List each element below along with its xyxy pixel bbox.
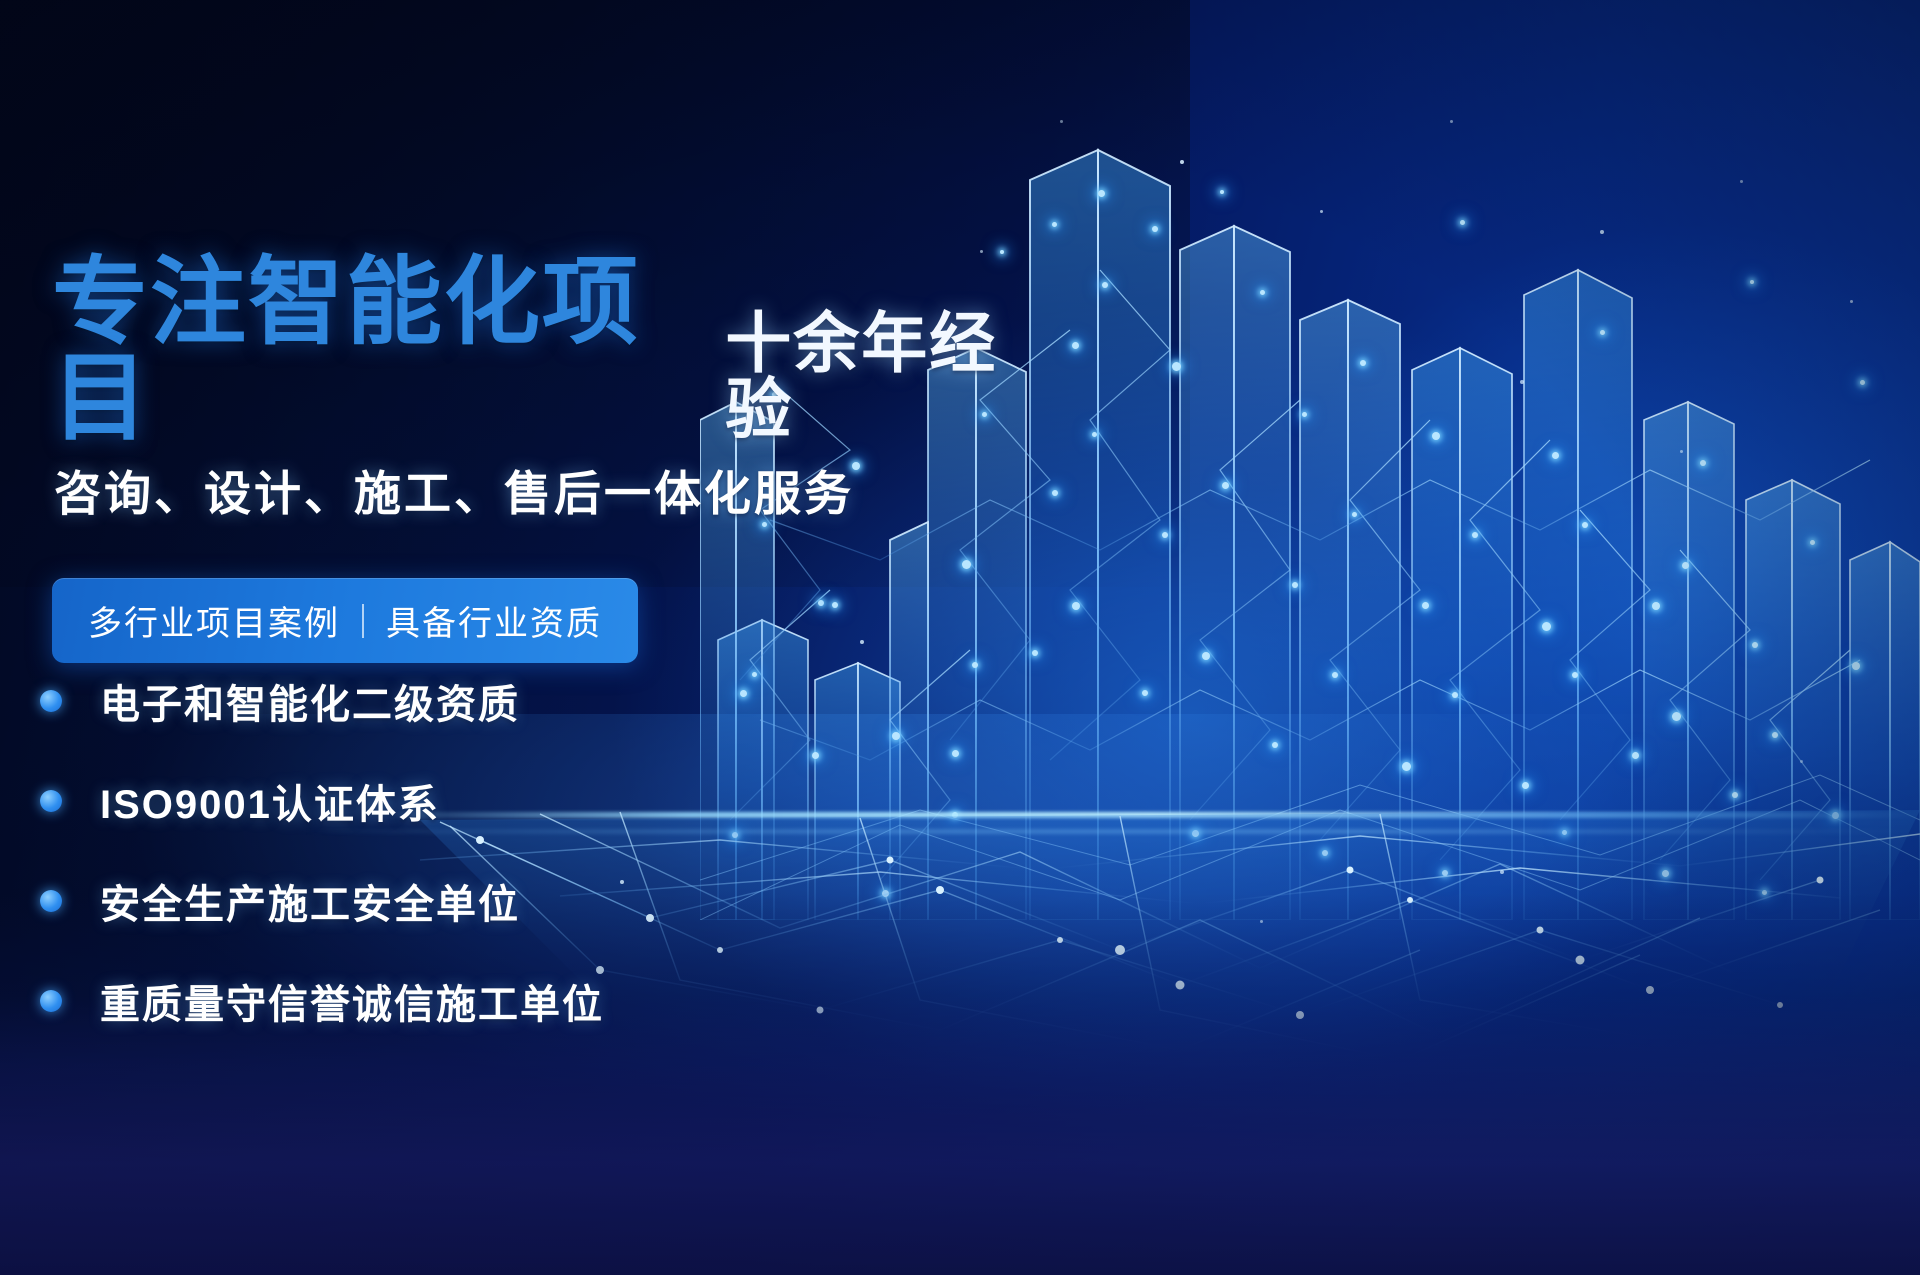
subheadline: 咨询、设计、施工、售后一体化服务 [54, 455, 854, 524]
list-item: 重质量守信誉诚信施工单位 [40, 972, 604, 1030]
list-item: 安全生产施工安全单位 [40, 872, 604, 930]
headline-primary: 专注智能化项目 [52, 255, 711, 447]
highlight-badge[interactable]: 多行业项目案例 具备行业资质 [52, 578, 638, 663]
badge-label-left: 多行业项目案例 [88, 596, 340, 645]
credential-list: 电子和智能化二级资质 ISO9001认证体系 安全生产施工安全单位 重质量守信誉… [40, 672, 604, 1072]
headline-highlight: 十余年经验 [725, 310, 1052, 447]
bullet-dot-icon [40, 790, 62, 812]
list-item-label: 电子和智能化二级资质 [100, 672, 520, 730]
list-item-label: ISO9001认证体系 [100, 772, 440, 830]
bullet-dot-icon [40, 990, 62, 1012]
bullet-dot-icon [40, 690, 62, 712]
list-item-label: 安全生产施工安全单位 [100, 872, 520, 930]
badge-label-right: 具备行业资质 [386, 596, 602, 645]
badge-separator [362, 604, 364, 638]
bullet-dot-icon [40, 890, 62, 912]
banner-stage: 专注智能化项目 十余年经验 咨询、设计、施工、售后一体化服务 多行业项目案例 具… [0, 0, 1920, 1275]
list-item-label: 重质量守信誉诚信施工单位 [100, 972, 604, 1030]
list-item: ISO9001认证体系 [40, 772, 604, 830]
list-item: 电子和智能化二级资质 [40, 672, 604, 730]
headline: 专注智能化项目 十余年经验 [52, 255, 1052, 447]
